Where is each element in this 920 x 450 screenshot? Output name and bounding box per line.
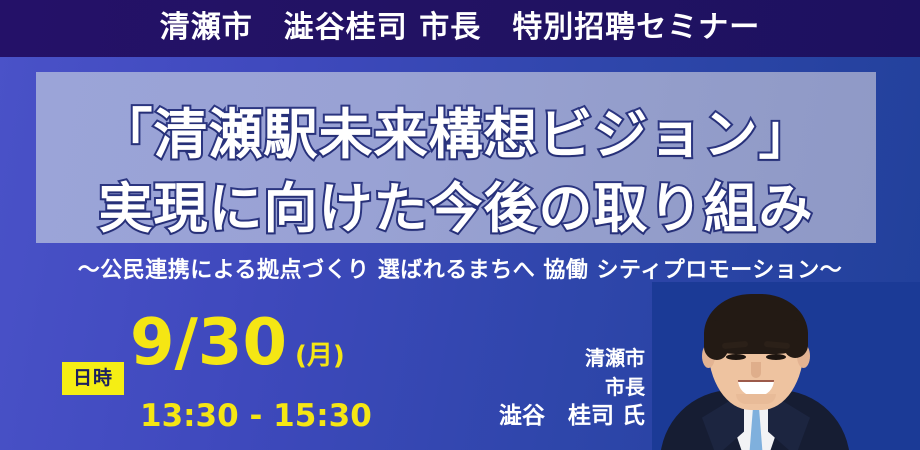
portrait-eye-right: [766, 354, 786, 360]
portrait-hair-side-left: [704, 320, 728, 360]
title-panel: 「清瀬駅未来構想ビジョン」 実現に向けた今後の取り組み: [36, 72, 876, 243]
main-title-line-1: 「清瀬駅未来構想ビジョン」: [36, 90, 876, 169]
event-date-value: 9/30: [130, 306, 287, 380]
speaker-info: 清瀬市 市長 澁谷 桂司 氏: [325, 344, 645, 431]
speaker-position: 市長: [325, 373, 645, 402]
portrait-nose: [751, 362, 761, 378]
portrait-eye-left: [726, 354, 746, 360]
header-band: 清瀬市 澁谷桂司 市長 特別招聘セミナー: [0, 0, 920, 57]
header-title: 清瀬市 澁谷桂司 市長 特別招聘セミナー: [0, 8, 920, 48]
date-time-badge: 日時: [62, 362, 124, 395]
portrait-hair-side-right: [784, 320, 808, 358]
speaker-organization: 清瀬市: [325, 344, 645, 373]
seminar-banner: 清瀬市 澁谷桂司 市長 特別招聘セミナー 「清瀬駅未来構想ビジョン」 実現に向け…: [0, 0, 920, 450]
portrait-chin: [736, 394, 776, 404]
speaker-name: 澁谷 桂司 氏: [325, 402, 645, 431]
main-title-line-2: 実現に向けた今後の取り組み: [36, 164, 876, 243]
speaker-portrait-photo: [652, 282, 920, 450]
subtitle: 〜公民連携による拠点づくり 選ばれるまちへ 協働 シティプロモーション〜: [0, 252, 920, 284]
